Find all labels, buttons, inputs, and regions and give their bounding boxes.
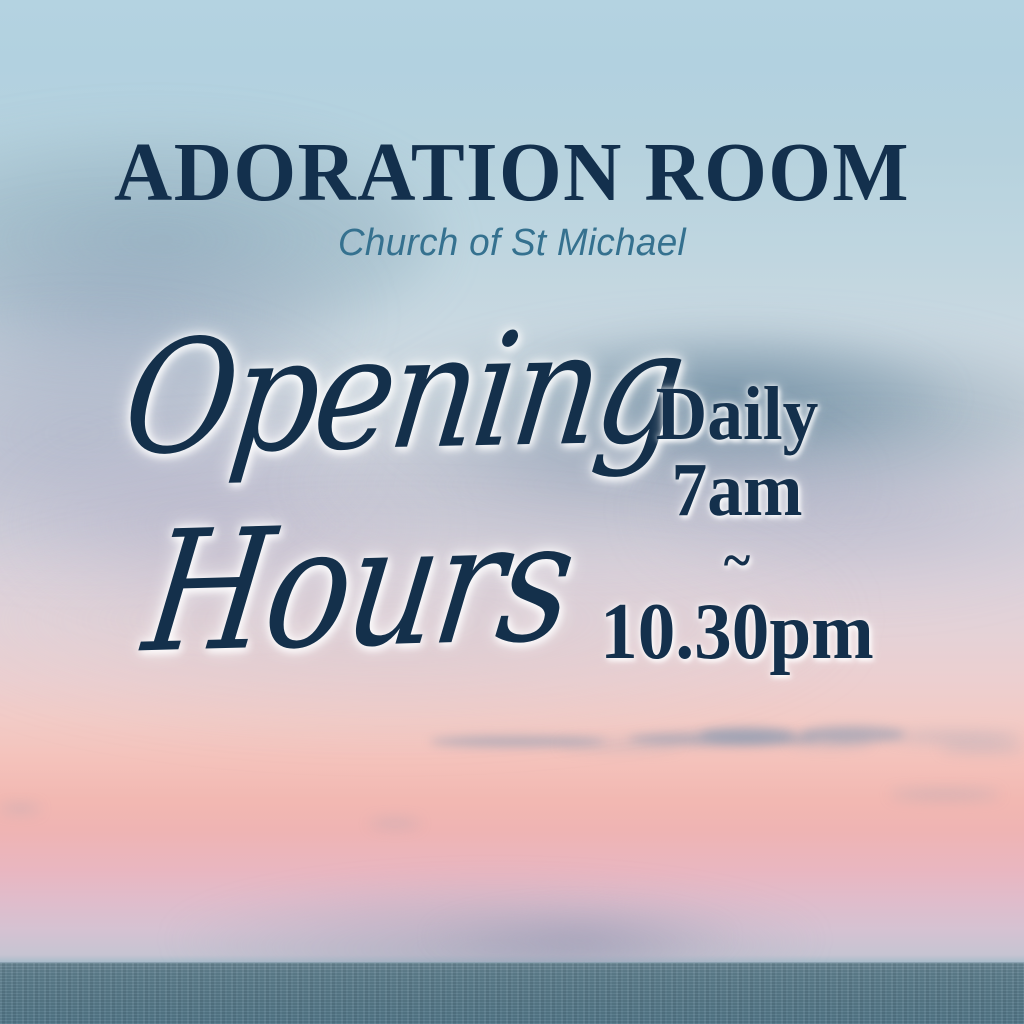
opening-hours-block: Daily 7am ~ 10.30pm [556, 377, 918, 671]
sea-surface [0, 963, 1024, 1024]
page-title: ADORATION ROOM [20, 131, 1003, 215]
schedule-open-time: 7am [567, 453, 907, 527]
poster-canvas: ADORATION ROOM Church of St Michael Open… [0, 0, 1024, 1024]
schedule-frequency: Daily [567, 377, 907, 451]
script-word-hours: Hours [137, 499, 581, 677]
page-subtitle: Church of St Michael [15, 224, 1008, 262]
schedule-separator: ~ [567, 532, 907, 589]
schedule-close-time: 10.30pm [567, 593, 907, 671]
